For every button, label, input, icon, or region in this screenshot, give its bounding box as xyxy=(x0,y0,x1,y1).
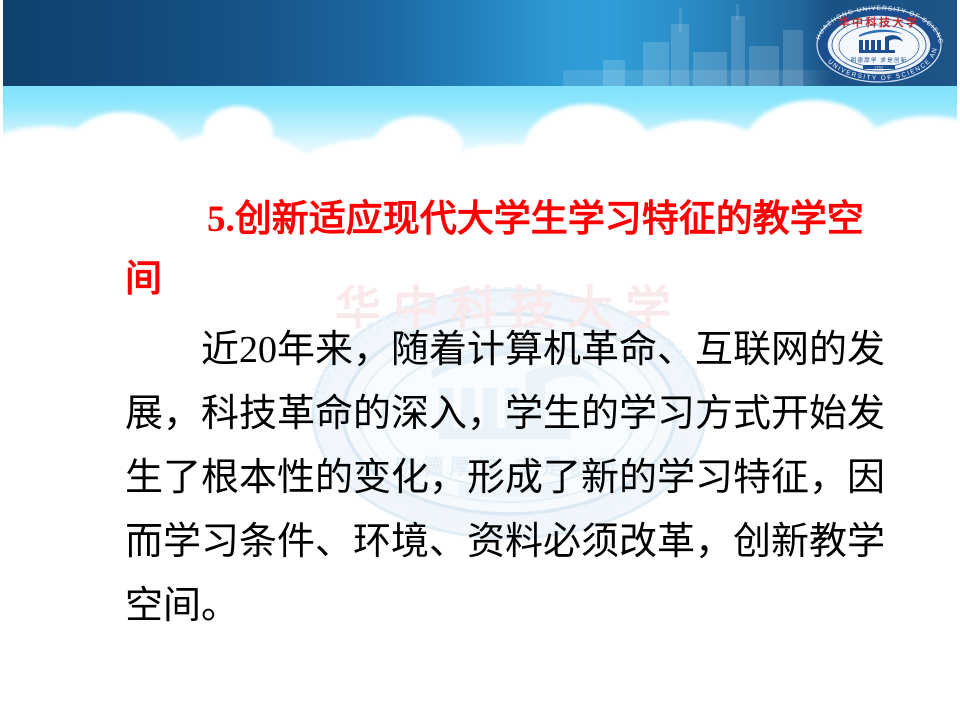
slide-body-paragraph: 近20年来，随着计算机革命、互联网的发展，科技革命的深入，学生的学习方式开始发生… xyxy=(125,318,885,638)
slide-content: 5.创新适应现代大学生学习特征的教学空间 近20年来，随着计算机革命、互联网的发… xyxy=(3,0,960,720)
presentation-slide: HUAZHONG UNIVERSITY OF SCIENCE AND TECH … xyxy=(0,0,960,720)
slide-title: 5.创新适应现代大学生学习特征的教学空间 xyxy=(125,190,885,310)
